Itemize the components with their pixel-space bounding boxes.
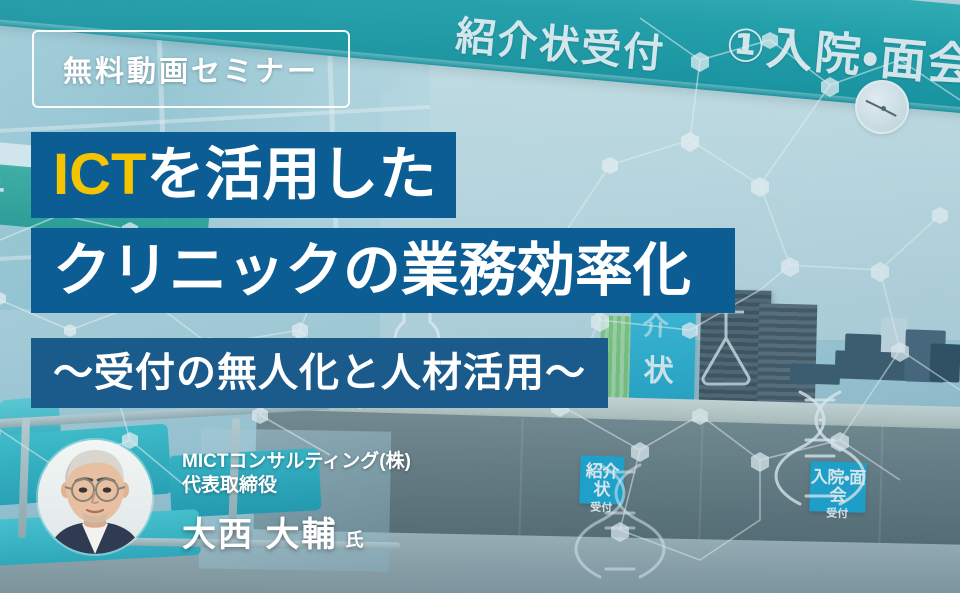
subtitle-text: 〜受付の無人化と人材活用〜 xyxy=(53,353,586,393)
speaker-honorific: 氏 xyxy=(345,526,363,552)
speaker-name-row: 大西 大輔 氏 xyxy=(182,507,562,556)
speaker-block: MICTコンサルティング(株) 代表取締役 大西 大輔 氏 xyxy=(38,440,558,580)
speaker-organization: MICTコンサルティング(株) xyxy=(182,450,562,474)
title-line-1-text: ICTを活用した xyxy=(53,146,436,204)
free-seminar-badge-label: 無料動画セミナー xyxy=(63,48,319,90)
speaker-details: MICTコンサルティング(株) 代表取締役 大西 大輔 氏 xyxy=(182,450,562,556)
speaker-name: 大西 大輔 xyxy=(182,507,337,556)
speaker-role: 代表取締役 xyxy=(182,474,562,498)
seminar-banner: 付 紹介状受付 ①入院・面会 介 状 xyxy=(0,0,960,593)
title-highlight-ict: ICT xyxy=(53,142,146,207)
title-line-2-text: クリニックの業務効率化 xyxy=(53,242,691,300)
banner-content: 無料動画セミナー ICTを活用した クリニックの業務効率化 〜受付の無人化と人材… xyxy=(0,0,960,593)
title-line-1: ICTを活用した xyxy=(31,132,456,218)
free-seminar-badge: 無料動画セミナー xyxy=(32,30,350,108)
subtitle-bar: 〜受付の無人化と人材活用〜 xyxy=(31,338,608,408)
title-line-1-rest: を活用した xyxy=(146,142,436,207)
speaker-avatar xyxy=(38,440,152,554)
title-line-2: クリニックの業務効率化 xyxy=(31,228,735,313)
